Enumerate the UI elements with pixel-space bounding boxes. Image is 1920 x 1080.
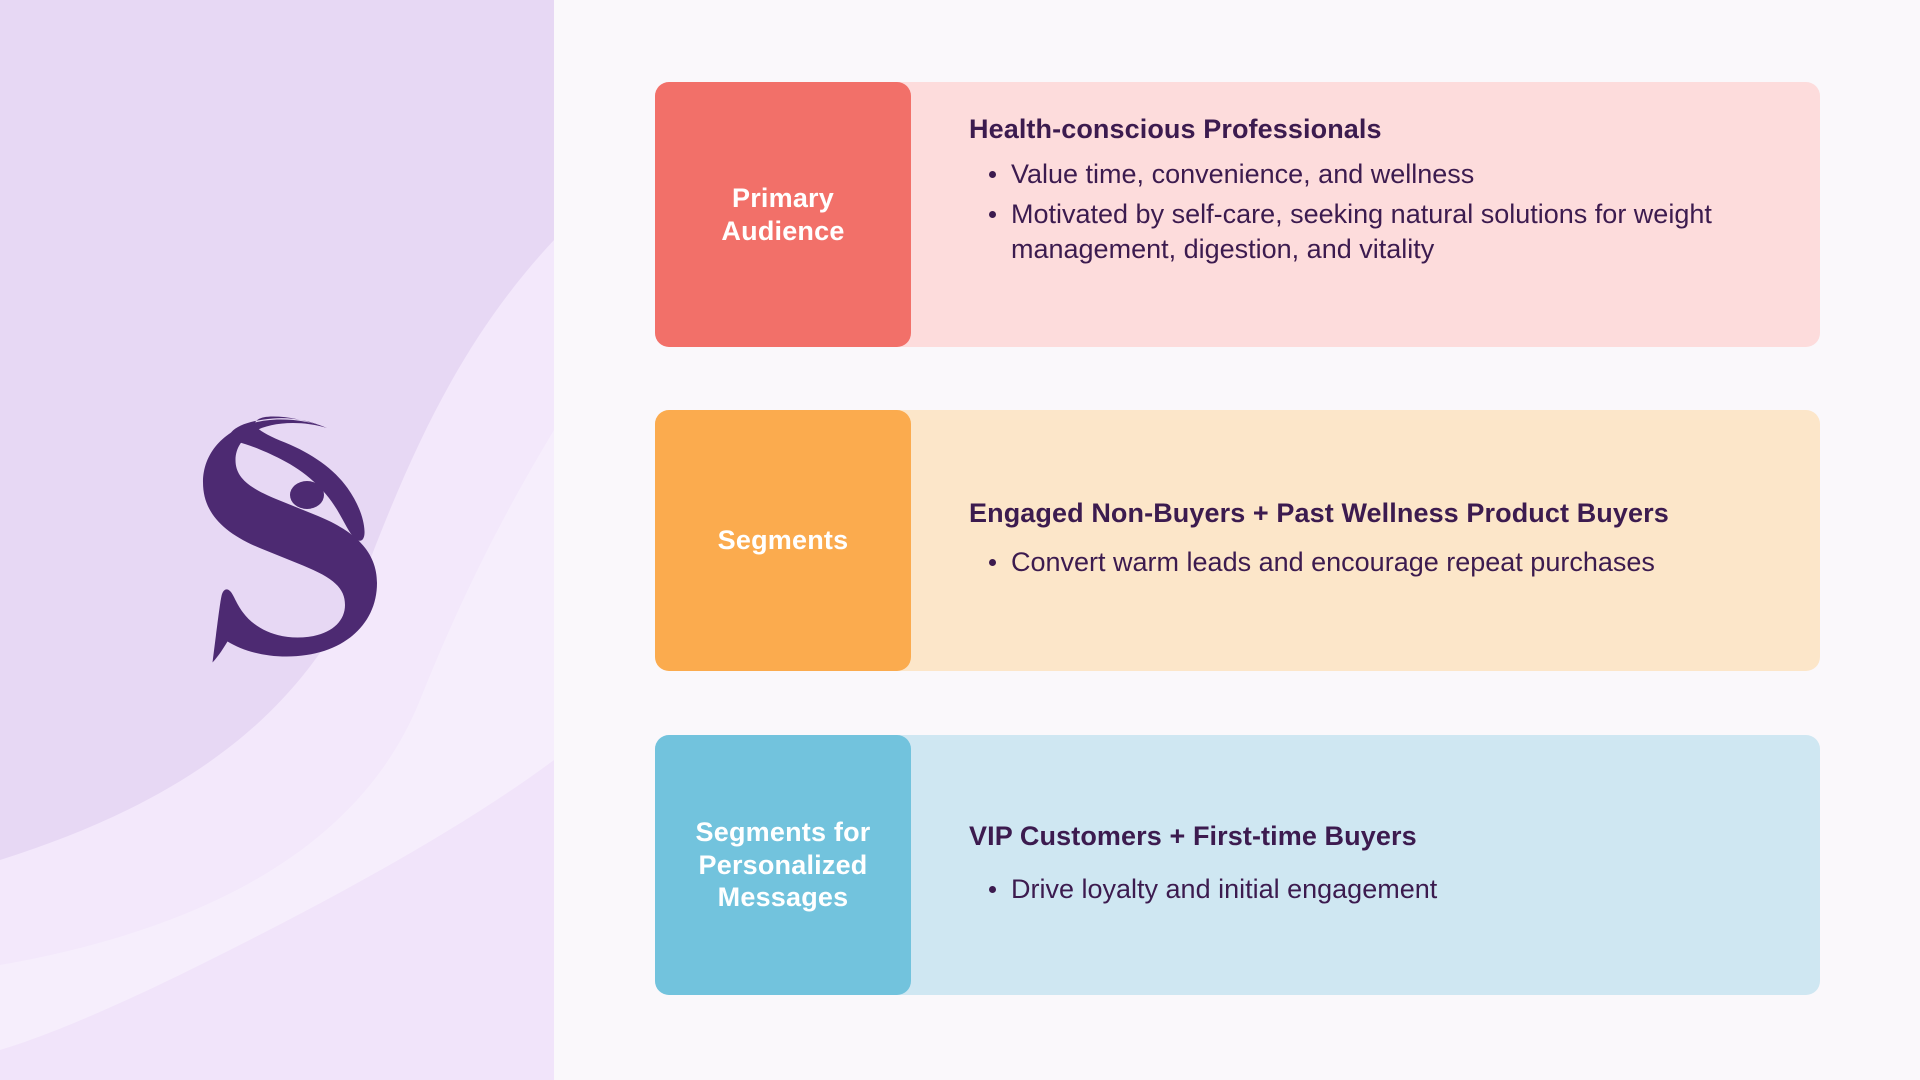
card-heading: Health-conscious Professionals [969,112,1780,147]
card-heading: Engaged Non-Buyers + Past Wellness Produ… [969,496,1780,531]
card-primary-audience: Primary Audience Health-conscious Profes… [655,82,1820,347]
card-bullet-list: Value time, convenience, and wellness Mo… [969,157,1780,272]
stylized-s-serpent-logo-icon [157,390,397,690]
bullet-item: Convert warm leads and encourage repeat … [1011,545,1780,581]
card-label-primary-audience: Primary Audience [655,82,911,347]
bullet-item: Value time, convenience, and wellness [1011,157,1780,193]
bullet-item: Motivated by self-care, seeking natural … [1011,197,1780,268]
card-label-line-1: Segments for [696,817,871,847]
card-body-primary-audience: Health-conscious Professionals Value tim… [911,82,1820,347]
card-label-line-3: Messages [718,882,849,912]
card-label-line-1: Primary [732,183,834,213]
card-segments: Segments Engaged Non-Buyers + Past Welln… [655,410,1820,671]
card-label-text: Segments [718,524,849,557]
card-body-segments: Engaged Non-Buyers + Past Wellness Produ… [911,410,1820,671]
card-label-line-2: Personalized [699,850,868,880]
bullet-item: Drive loyalty and initial engagement [1011,872,1780,908]
card-bullet-list: Convert warm leads and encourage repeat … [969,545,1780,585]
card-label-segments-personalized: Segments for Personalized Messages [655,735,911,995]
brand-logo [0,0,554,1080]
card-label-line-1: Segments [718,525,849,555]
card-label-text: Primary Audience [721,182,844,248]
infographic-page: Primary Audience Health-conscious Profes… [0,0,1920,1080]
card-label-text: Segments for Personalized Messages [696,816,871,915]
card-heading: VIP Customers + First-time Buyers [969,819,1780,854]
card-body-segments-personalized: VIP Customers + First-time Buyers Drive … [911,735,1820,995]
card-label-line-2: Audience [721,216,844,246]
card-label-segments: Segments [655,410,911,671]
brand-panel [0,0,554,1080]
content-area: Primary Audience Health-conscious Profes… [554,0,1920,1080]
card-segments-personalized-messages: Segments for Personalized Messages VIP C… [655,735,1820,995]
card-bullet-list: Drive loyalty and initial engagement [969,872,1780,912]
